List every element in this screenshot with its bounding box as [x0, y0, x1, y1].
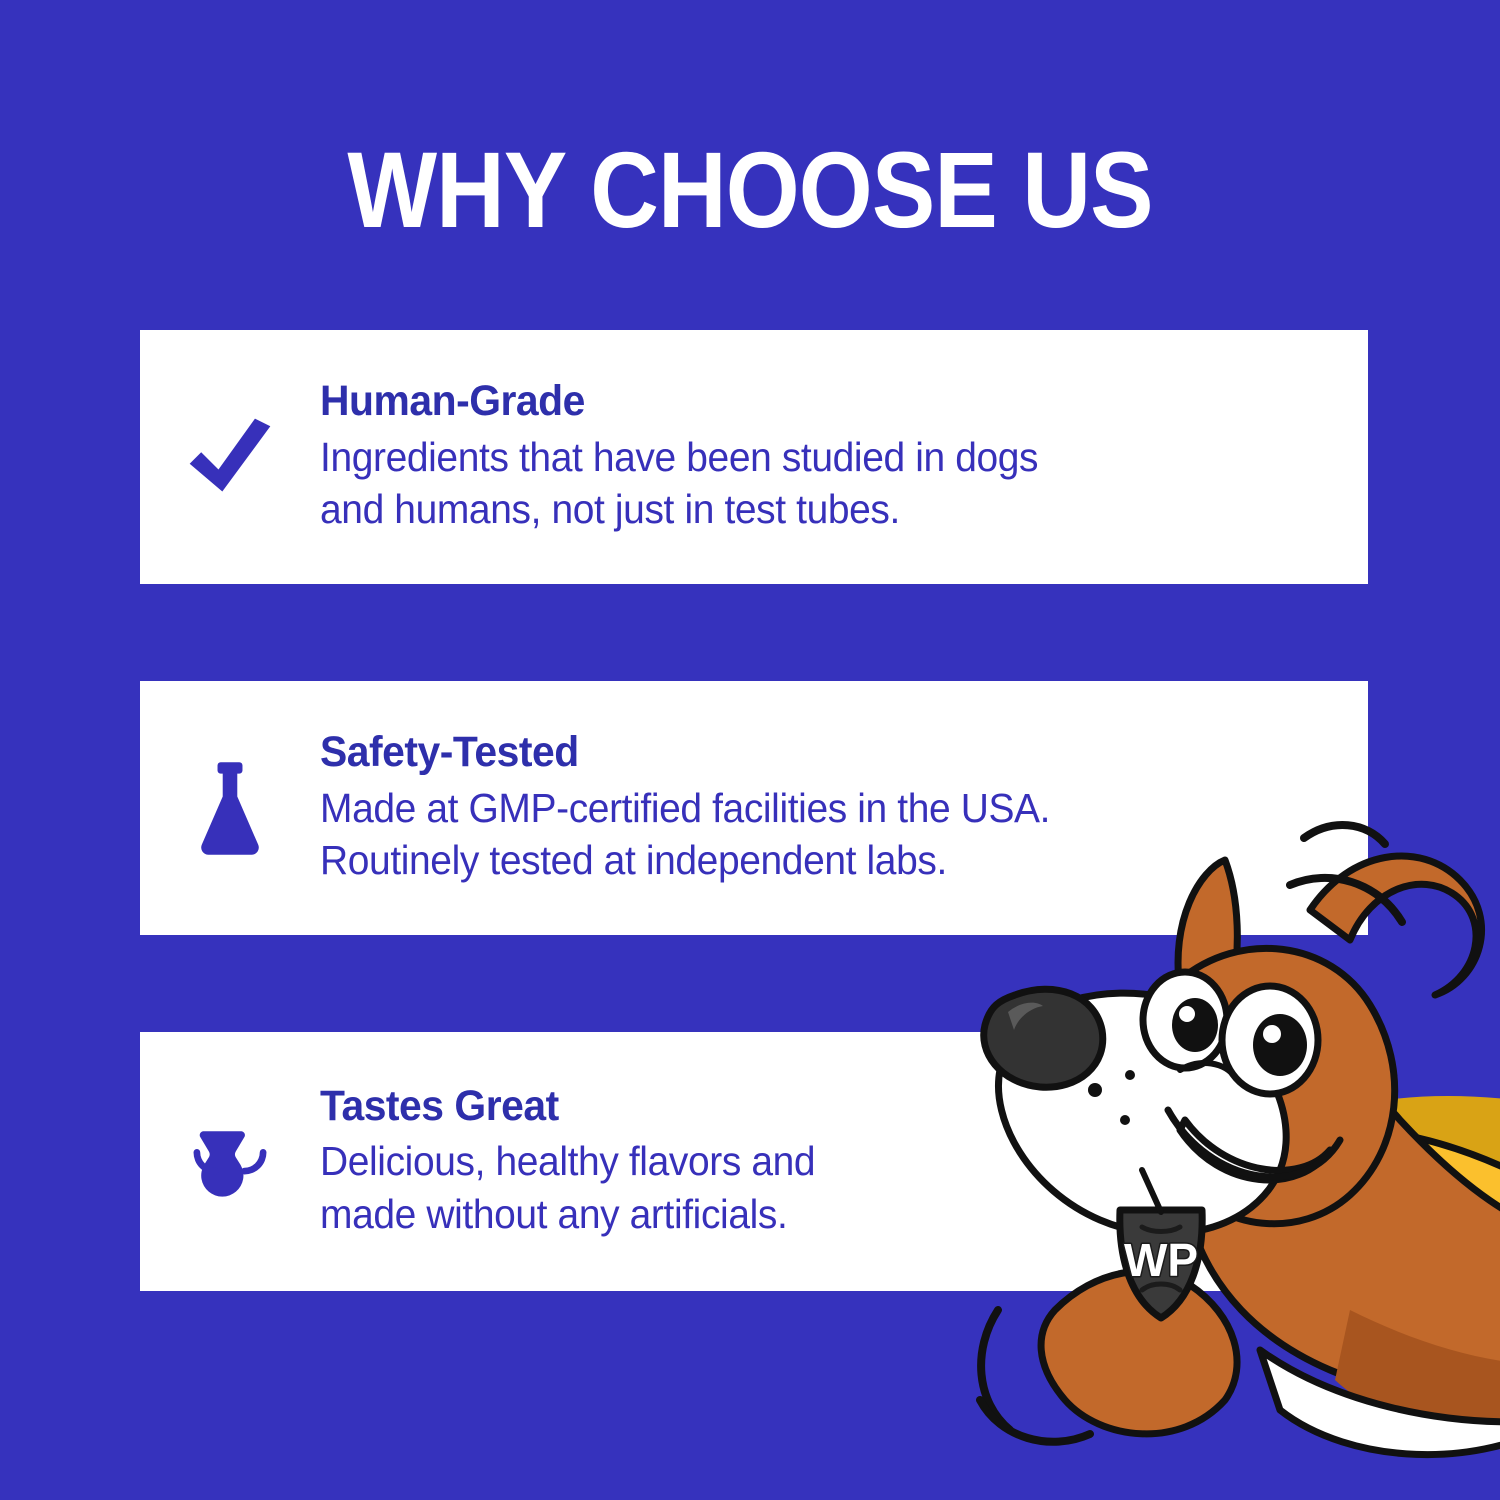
feature-icon-slot	[140, 1032, 320, 1291]
feature-body-line: Made at GMP-certified facilities in the …	[320, 782, 1287, 834]
feature-body-line: made without any artificials.	[320, 1188, 1287, 1240]
dog-belly	[1260, 1350, 1500, 1455]
feature-text: Tastes Great Delicious, healthy flavors …	[320, 1083, 1368, 1240]
feature-icon-slot	[140, 330, 320, 584]
page-title: WHY CHOOSE US	[90, 136, 1410, 244]
feature-title: Human-Grade	[320, 378, 1287, 424]
feature-body-line: Ingredients that have been studied in do…	[320, 431, 1287, 483]
checkmark-icon	[182, 409, 278, 505]
dog-haunch-shadow	[1335, 1310, 1500, 1452]
feature-body-line: and humans, not just in test tubes.	[320, 483, 1287, 535]
nose-highlight	[1008, 1003, 1043, 1030]
feature-title: Safety-Tested	[320, 729, 1287, 775]
feature-icon-slot	[140, 681, 320, 935]
feature-text: Human-Grade Ingredients that have been s…	[320, 378, 1368, 535]
feature-card-human-grade: Human-Grade Ingredients that have been s…	[140, 330, 1368, 584]
feature-body-line: Delicious, healthy flavors and	[320, 1135, 1287, 1187]
flask-icon	[192, 756, 268, 860]
dog-paw	[1041, 1271, 1237, 1433]
eye-glint	[1179, 1006, 1195, 1022]
taste-bud-icon	[182, 1114, 278, 1210]
feature-body-line: Routinely tested at independent labs.	[320, 834, 1287, 886]
motion-line	[981, 1310, 1010, 1430]
feature-text: Safety-Tested Made at GMP-certified faci…	[320, 729, 1368, 886]
motion-line	[980, 1400, 1090, 1442]
feature-body: Ingredients that have been studied in do…	[320, 431, 1287, 536]
infographic-page: WHY CHOOSE US Human-Grade Ingredients th…	[0, 0, 1500, 1500]
feature-card-tastes-great: Tastes Great Delicious, healthy flavors …	[140, 1032, 1368, 1291]
feature-body: Delicious, healthy flavors and made with…	[320, 1135, 1287, 1240]
feature-card-safety-tested: Safety-Tested Made at GMP-certified faci…	[140, 681, 1368, 935]
feature-body: Made at GMP-certified facilities in the …	[320, 782, 1287, 887]
feature-title: Tastes Great	[320, 1083, 1287, 1129]
